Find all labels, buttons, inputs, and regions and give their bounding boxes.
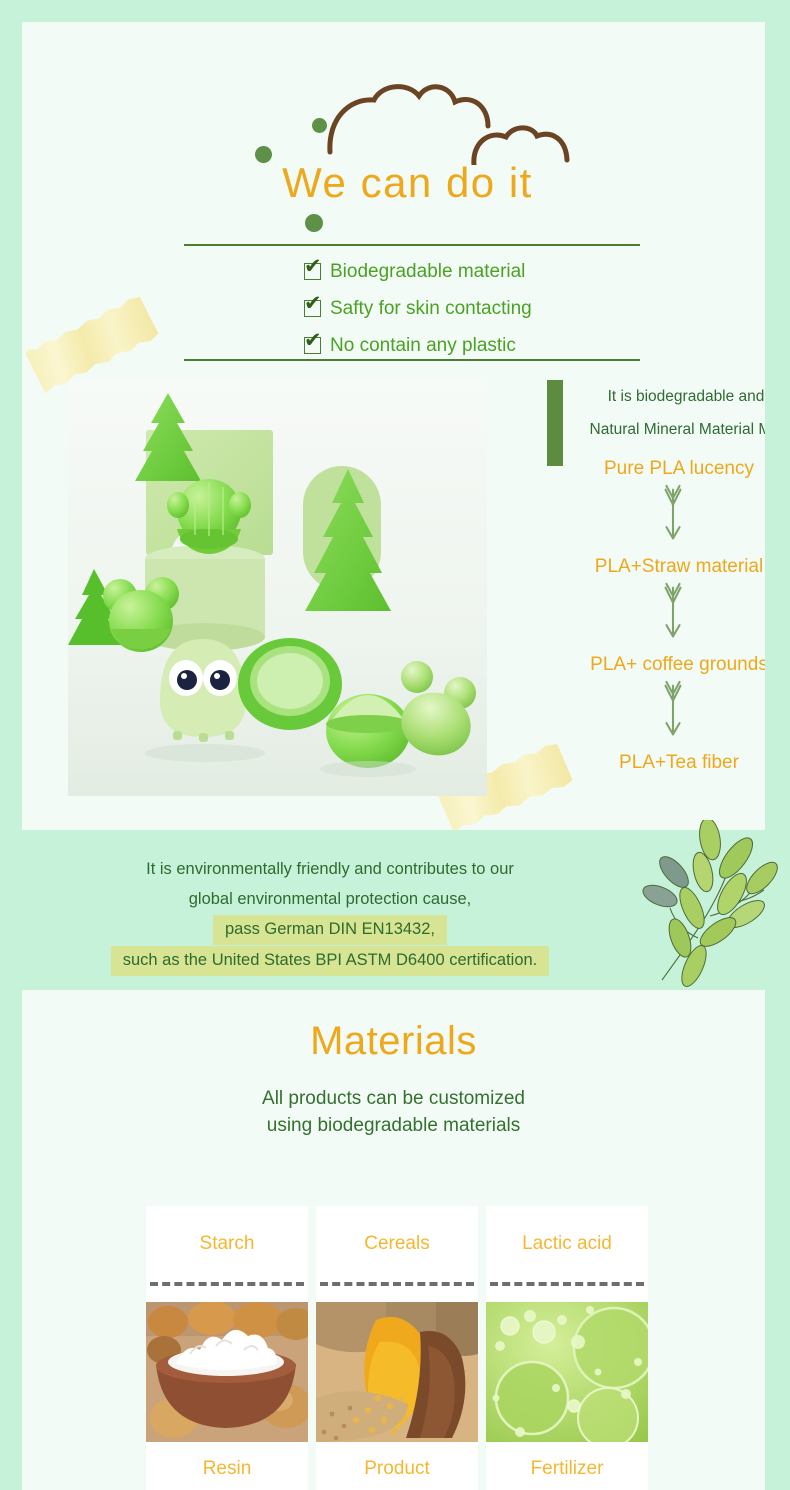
material-card-title: Starch bbox=[146, 1206, 308, 1282]
checklist-label: Safty for skin contacting bbox=[330, 298, 532, 320]
flow-stage: PLA+Straw material bbox=[537, 557, 765, 576]
product-photo-illustration bbox=[68, 381, 487, 796]
down-arrow-icon bbox=[659, 582, 687, 642]
green-dot-icon bbox=[305, 214, 323, 232]
checkbox-checked-icon: ✔ bbox=[304, 263, 321, 280]
eco-line-3: pass German DIN EN13432, bbox=[213, 915, 447, 945]
materials-subtitle-2: using biodegradable materials bbox=[22, 1112, 765, 1139]
material-card[interactable]: Starch bbox=[146, 1206, 308, 1490]
dashed-divider bbox=[490, 1282, 644, 1286]
checklist-label: Biodegradable material bbox=[330, 261, 525, 283]
material-card[interactable]: Lactic acid bbox=[486, 1206, 648, 1490]
lead-line-1: It is biodegradable and bbox=[537, 380, 765, 413]
material-card-footer: Resin bbox=[146, 1442, 308, 1490]
down-arrow-icon bbox=[659, 680, 687, 740]
checkbox-checked-icon: ✔ bbox=[304, 337, 321, 354]
dashed-divider bbox=[150, 1282, 304, 1286]
materials-subtitle-1: All products can be customized bbox=[22, 1085, 765, 1112]
cloud-doodle-icon bbox=[322, 80, 572, 165]
green-dot-icon bbox=[312, 118, 327, 133]
flow-stage: PLA+Tea fiber bbox=[537, 753, 765, 772]
washi-tape-decoration bbox=[24, 294, 160, 395]
starch-bowl-photo bbox=[146, 1302, 308, 1442]
material-card-title: Cereals bbox=[316, 1206, 478, 1282]
material-card[interactable]: Cereals bbox=[316, 1206, 478, 1490]
feature-checklist: ✔ Biodegradable material ✔ Safty for ski… bbox=[304, 253, 532, 364]
flow-stage: PLA+ coffee grounds bbox=[537, 655, 765, 674]
cereal-grains-photo bbox=[316, 1302, 478, 1442]
eco-statement-band: It is environmentally friendly and contr… bbox=[0, 838, 790, 990]
divider-bottom bbox=[184, 359, 640, 361]
eco-line-2: global environmental protection cause, bbox=[0, 884, 660, 914]
eco-statement-text: It is environmentally friendly and contr… bbox=[0, 854, 660, 976]
eco-line-1: It is environmentally friendly and contr… bbox=[0, 854, 660, 884]
materials-title: Materials bbox=[22, 1021, 765, 1061]
checklist-label: No contain any plastic bbox=[330, 335, 516, 357]
list-item: ✔ Biodegradable material bbox=[304, 253, 532, 290]
material-card-footer: Fertilizer bbox=[486, 1442, 648, 1490]
leaf-branch-icon bbox=[640, 820, 790, 992]
hero-panel: We can do it ✔ Biodegradable material ✔ … bbox=[22, 22, 765, 830]
list-item: ✔ Safty for skin contacting bbox=[304, 290, 532, 327]
material-card-footer: Product bbox=[316, 1442, 478, 1490]
material-flow: It is biodegradable and Natural Mineral … bbox=[537, 380, 765, 772]
eco-line-4: such as the United States BPI ASTM D6400… bbox=[111, 946, 550, 976]
materials-panel: Materials All products can be customized… bbox=[22, 990, 765, 1490]
materials-card-list: Starch bbox=[146, 1206, 658, 1490]
product-photo bbox=[68, 381, 487, 796]
material-card-title: Lactic acid bbox=[486, 1206, 648, 1282]
flow-stage: Pure PLA lucency bbox=[537, 459, 765, 478]
lead-line-2: Natural Mineral Material Mix bbox=[537, 413, 765, 446]
divider-top bbox=[184, 244, 640, 246]
dashed-divider bbox=[320, 1282, 474, 1286]
lactic-acid-liquid-photo bbox=[486, 1302, 648, 1442]
checkbox-checked-icon: ✔ bbox=[304, 300, 321, 317]
down-arrow-icon bbox=[659, 484, 687, 544]
page-title: We can do it bbox=[22, 162, 765, 204]
green-dot-icon bbox=[255, 146, 272, 163]
